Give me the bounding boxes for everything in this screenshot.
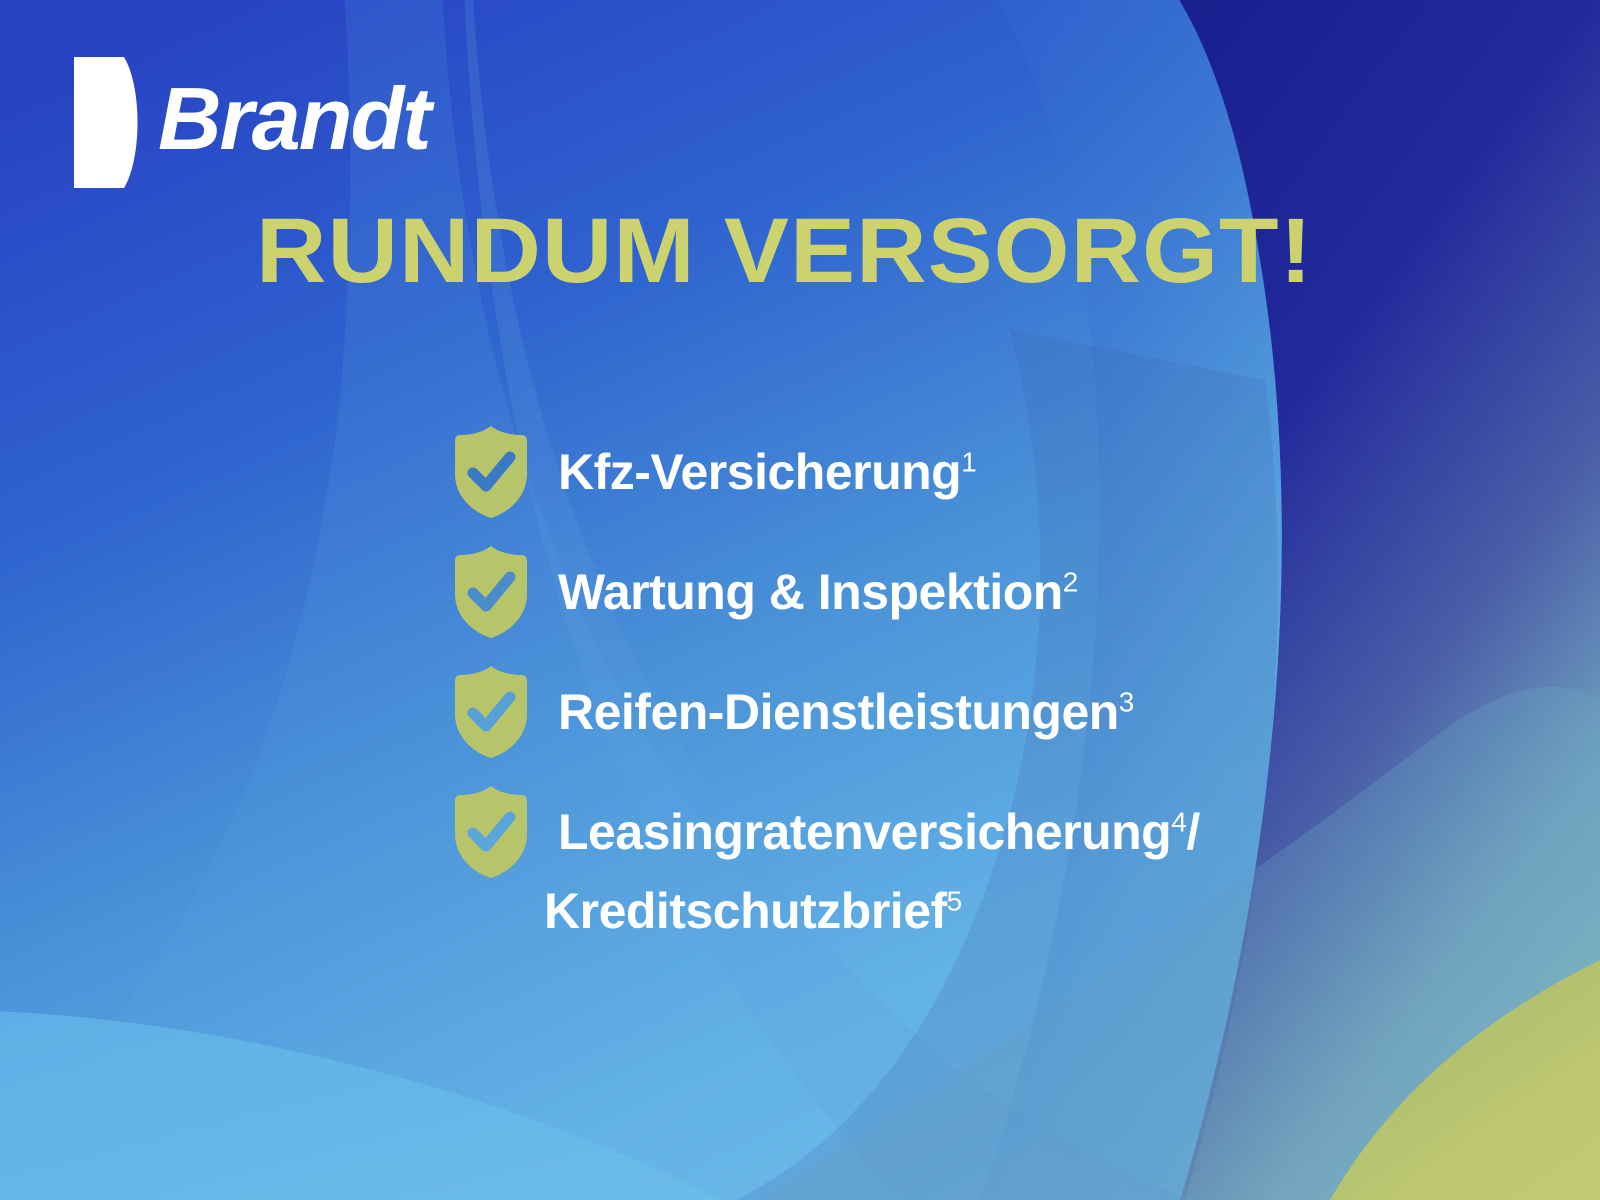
brand-logo: Brandt	[72, 55, 430, 190]
list-item: Wartung & Inspektion2	[452, 538, 1552, 658]
list-item-text-line2: Kreditschutzbrief	[544, 883, 947, 939]
shield-check-icon	[452, 664, 530, 760]
shield-check-icon	[452, 784, 530, 880]
shield-check-icon	[452, 544, 530, 640]
list-item-label: Leasingratenversicherung4/	[452, 778, 1552, 869]
list-item: Leasingratenversicherung4/ Kreditschutzb…	[452, 778, 1552, 948]
footnote-marker: 4	[1171, 806, 1186, 837]
feature-checklist: Kfz-Versicherung1 Wartung & Inspektion2 …	[452, 418, 1552, 948]
list-item-label: Reifen-Dienstleistungen3	[558, 658, 1552, 749]
brand-wordmark: Brandt	[158, 75, 430, 163]
list-item-label-line2: Kreditschutzbrief5	[452, 869, 1552, 948]
list-item: Reifen-Dienstleistungen3	[452, 658, 1552, 778]
list-item-text: Leasingratenversicherung	[558, 804, 1171, 860]
list-item-text: Kfz-Versicherung	[558, 444, 961, 500]
shield-check-icon	[452, 424, 530, 520]
list-item: Kfz-Versicherung1	[452, 418, 1552, 538]
footnote-marker: 3	[1119, 686, 1134, 717]
promo-graphic: Brandt RUNDUM VERSORGT! Kfz-Versicherung…	[0, 0, 1600, 1200]
list-item-label: Kfz-Versicherung1	[558, 418, 1552, 509]
label-separator: /	[1186, 804, 1199, 860]
bracket-crescent-icon	[72, 55, 148, 190]
footnote-marker: 2	[1063, 566, 1078, 597]
page-title: RUNDUM VERSORGT!	[256, 205, 1313, 297]
footnote-marker: 5	[947, 885, 962, 916]
list-item-label: Wartung & Inspektion2	[558, 538, 1552, 629]
list-item-text: Wartung & Inspektion	[558, 564, 1063, 620]
list-item-text: Reifen-Dienstleistungen	[558, 684, 1119, 740]
footnote-marker: 1	[961, 446, 976, 477]
